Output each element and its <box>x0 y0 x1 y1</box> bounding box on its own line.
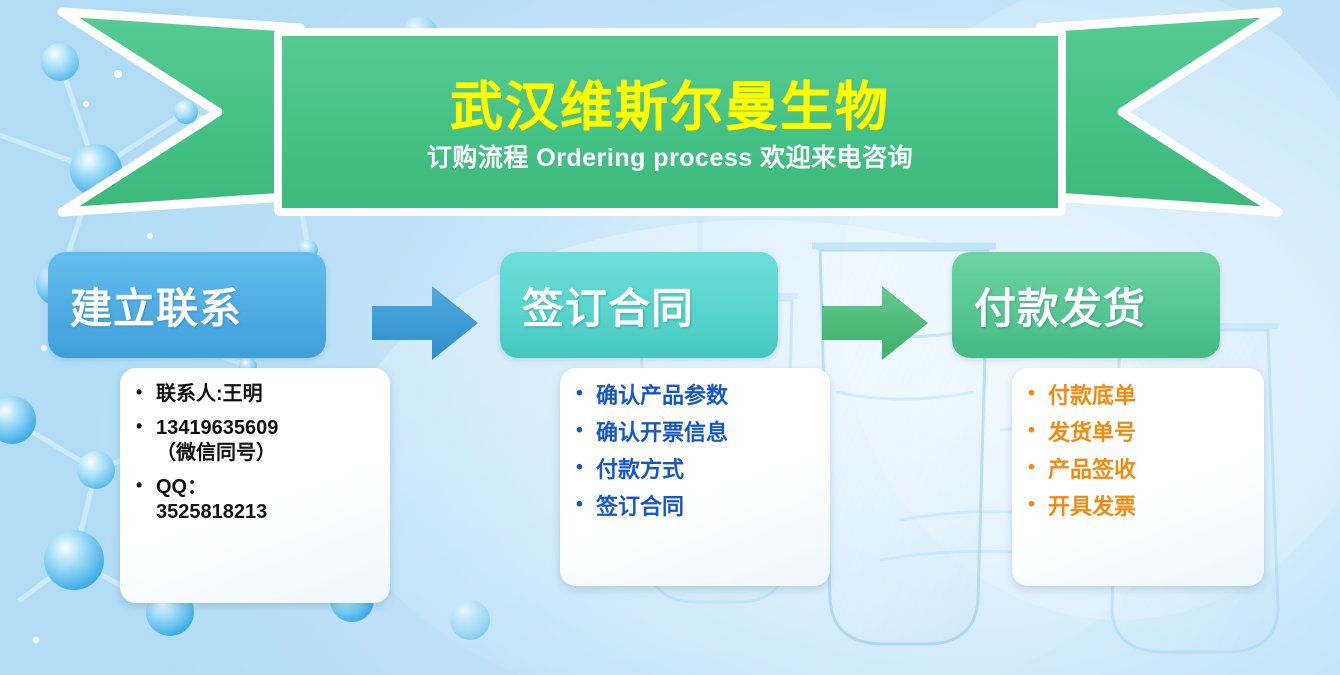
list-item: 产品签收 <box>1022 456 1250 484</box>
step-contact[interactable]: 建立联系 联系人:王明 13419635609 （微信同号） QQ： 35258… <box>48 252 326 358</box>
contract-item-4: 签订合同 <box>596 494 684 519</box>
contract-item-3: 付款方式 <box>596 457 684 482</box>
arrow-contact-to-contract-icon <box>370 284 480 367</box>
payment-item-4: 开具发票 <box>1048 494 1136 519</box>
payment-detail-list: 付款底单 发货单号 产品签收 开具发票 <box>1022 382 1250 522</box>
list-item: 13419635609 （微信同号） <box>130 416 376 467</box>
arrow-contract-to-payment-icon <box>820 284 930 367</box>
contract-item-1: 确认产品参数 <box>596 383 728 408</box>
step-payment-shipping-title: 付款发货 <box>974 275 1146 336</box>
list-item: 付款底单 <box>1022 382 1250 410</box>
step-contact-title: 建立联系 <box>70 275 242 336</box>
list-item: QQ： 3525818213 <box>130 475 376 526</box>
contact-person: 联系人:王明 <box>156 383 263 405</box>
contact-phone-note: （微信同号） <box>156 441 376 467</box>
payment-item-3: 产品签收 <box>1048 457 1136 482</box>
payment-item-2: 发货单号 <box>1048 420 1136 445</box>
contact-qq-label: QQ： <box>156 476 207 498</box>
list-item: 确认开票信息 <box>570 419 816 447</box>
list-item: 联系人:王明 <box>130 382 376 408</box>
contract-item-2: 确认开票信息 <box>596 420 728 445</box>
step-contract-title: 签订合同 <box>522 275 694 336</box>
list-item: 签订合同 <box>570 493 816 521</box>
contact-phone: 13419635609 <box>156 417 278 439</box>
step-contact-body: 联系人:王明 13419635609 （微信同号） QQ： 3525818213 <box>120 368 390 603</box>
step-contract-header[interactable]: 签订合同 <box>500 252 778 358</box>
list-item: 付款方式 <box>570 456 816 484</box>
contract-detail-list: 确认产品参数 确认开票信息 付款方式 签订合同 <box>570 382 816 522</box>
step-contact-header[interactable]: 建立联系 <box>48 252 326 358</box>
step-contract[interactable]: 签订合同 确认产品参数 确认开票信息 付款方式 签订合同 <box>500 252 778 358</box>
contact-qq-number: 3525818213 <box>156 500 376 526</box>
contact-detail-list: 联系人:王明 13419635609 （微信同号） QQ： 3525818213 <box>130 382 376 526</box>
ordering-process-flow: 建立联系 联系人:王明 13419635609 （微信同号） QQ： 35258… <box>0 252 1340 652</box>
payment-item-1: 付款底单 <box>1048 383 1136 408</box>
poster-canvas: 武汉维斯尔曼生物 订购流程 Ordering process 欢迎来电咨询 建立… <box>0 0 1340 675</box>
step-payment-shipping[interactable]: 付款发货 付款底单 发货单号 产品签收 开具发票 <box>952 252 1220 358</box>
list-item: 确认产品参数 <box>570 382 816 410</box>
step-contract-body: 确认产品参数 确认开票信息 付款方式 签订合同 <box>560 368 830 586</box>
step-payment-shipping-header[interactable]: 付款发货 <box>952 252 1220 358</box>
list-item: 开具发票 <box>1022 493 1250 521</box>
step-payment-shipping-body: 付款底单 发货单号 产品签收 开具发票 <box>1012 368 1264 586</box>
list-item: 发货单号 <box>1022 419 1250 447</box>
banner-ribbon: 武汉维斯尔曼生物 订购流程 Ordering process 欢迎来电咨询 <box>0 0 1340 225</box>
